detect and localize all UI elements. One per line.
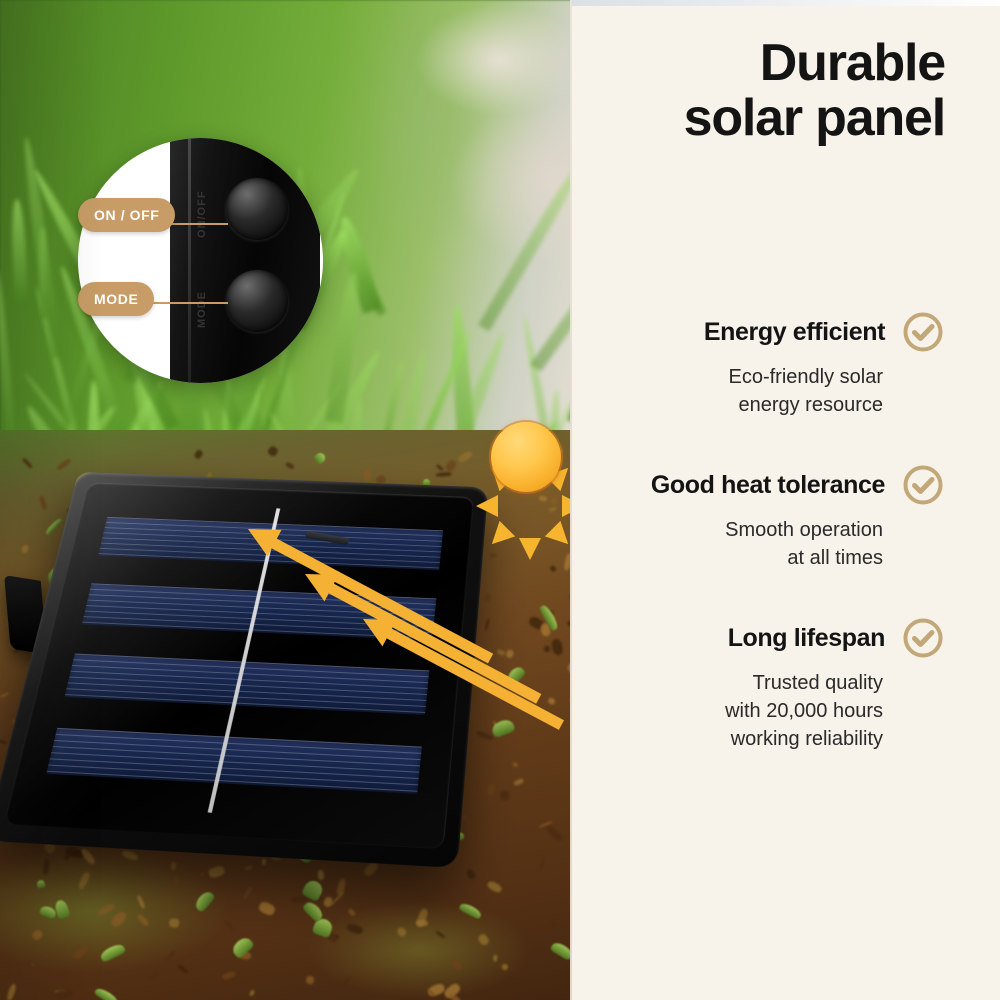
check-circle-icon (901, 463, 945, 507)
solar-cell (46, 728, 422, 794)
panel-body (0, 472, 488, 868)
feature-list: Energy efficient Eco-friendly solarenerg… (585, 310, 945, 797)
headline-line-2: solar panel (585, 91, 945, 146)
sun-icon (455, 392, 572, 522)
feature-item: Good heat tolerance Smooth operationat a… (585, 463, 945, 572)
page-title: Durable solar panel (585, 36, 945, 146)
sun-disc (491, 422, 561, 492)
feature-description-line: at all times (585, 545, 883, 573)
callout-label-mode: MODE (78, 282, 154, 316)
sun-ray (519, 538, 541, 560)
feature-item: Long lifespan Trusted qualitywith 20,000… (585, 616, 945, 753)
feature-description-line: with 20,000 hours (585, 698, 883, 726)
feature-item: Energy efficient Eco-friendly solarenerg… (585, 310, 945, 419)
feature-description: Eco-friendly solarenergy resource (585, 364, 945, 419)
feature-description-line: Eco-friendly solar (585, 364, 883, 392)
feature-title: Energy efficient (704, 318, 885, 347)
feature-description-line: Trusted quality (585, 670, 883, 698)
callout-label-on-off: ON / OFF (78, 198, 175, 232)
feature-description-line: Smooth operation (585, 517, 883, 545)
check-circle-icon (901, 310, 945, 354)
mode-button[interactable] (226, 270, 288, 332)
button-detail-callout: ON/OFF MODE (78, 138, 323, 383)
callout-device-body: ON/OFF MODE (170, 138, 320, 383)
info-panel: Durable solar panel Energy efficient Eco… (572, 0, 1000, 1000)
sun-ray (476, 495, 498, 517)
feature-title: Long lifespan (728, 624, 885, 653)
feature-description: Smooth operationat all times (585, 517, 945, 572)
solar-cell (64, 653, 429, 715)
device-seam (188, 138, 191, 383)
headline-line-1: Durable (585, 36, 945, 91)
panel-cells (4, 482, 474, 849)
feature-description-line: energy resource (585, 392, 883, 420)
feature-title: Good heat tolerance (651, 471, 885, 500)
emboss-label-mode: MODE (196, 272, 208, 328)
feature-header: Energy efficient (585, 310, 945, 354)
check-circle-icon (901, 616, 945, 660)
top-accent-strip (572, 0, 1000, 6)
product-feature-poster: ON/OFF MODE ON / OFF MODE (0, 0, 1000, 1000)
feature-description: Trusted qualitywith 20,000 hoursworking … (585, 670, 945, 753)
feature-description-line: working reliability (585, 726, 883, 754)
product-photo: ON/OFF MODE ON / OFF MODE (0, 0, 572, 1000)
feature-header: Good heat tolerance (585, 463, 945, 507)
feature-header: Long lifespan (585, 616, 945, 660)
emboss-label-on-off: ON/OFF (196, 182, 208, 238)
on-off-button[interactable] (226, 178, 288, 240)
